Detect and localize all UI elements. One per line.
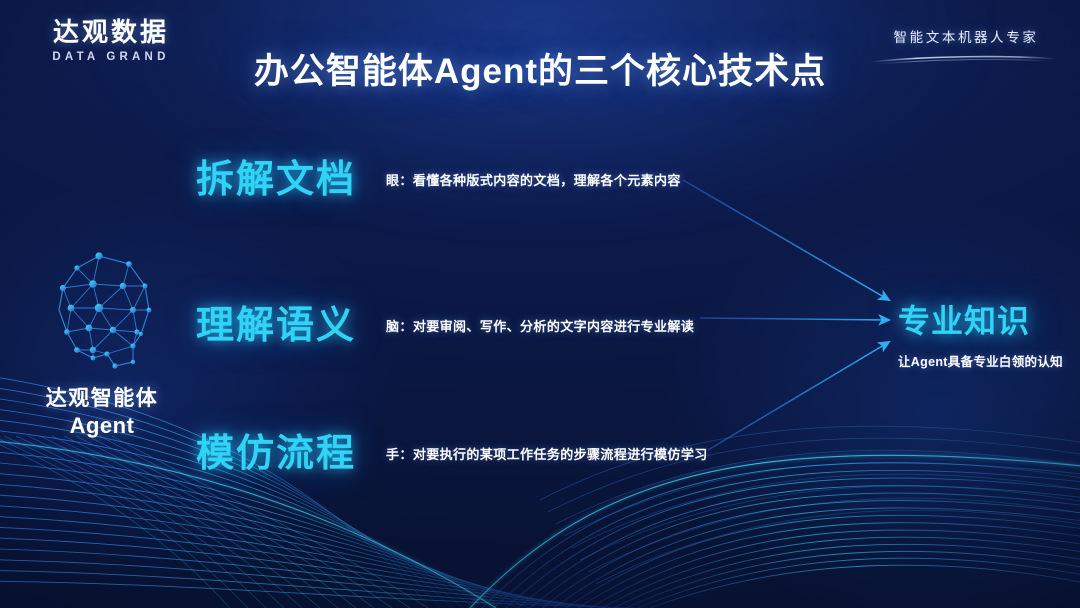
outcome-block: 专业知识 让Agent具备专业白领的认知: [898, 296, 1074, 370]
pillar-title-2: 理解语义: [196, 294, 356, 349]
pillar-title-1: 拆解文档: [196, 148, 356, 203]
agent-name-en: Agent: [18, 413, 186, 439]
pillar-desc-3: 手：对要执行的某项工作任务的步骤流程进行模仿学习: [386, 444, 708, 463]
pillar-row-3: 模仿流程 手：对要执行的某项工作任务的步骤流程进行模仿学习: [196, 422, 708, 477]
pillar-desc-2: 脑：对要审阅、写作、分析的文字内容进行专业解读: [386, 316, 694, 335]
tagline-underline-swoosh: [866, 53, 1062, 67]
pillar-desc-1: 眼：看懂各种版式内容的文档，理解各个元素内容: [386, 170, 681, 189]
outcome-desc: 让Agent具备专业白领的认知: [898, 351, 1074, 370]
pillar-row-2: 理解语义 脑：对要审阅、写作、分析的文字内容进行专业解读: [196, 294, 694, 349]
pillar-title-3: 模仿流程: [196, 422, 356, 477]
brand-logo-cn: 达观数据: [26, 18, 196, 47]
outcome-title: 专业知识: [898, 296, 1074, 342]
network-head-icon: [37, 250, 167, 376]
slide-canvas: 达观数据 DATA GRAND 办公智能体Agent的三个核心技术点 智能文本机…: [0, 0, 1080, 608]
agent-emblem: 达观智能体 Agent: [18, 250, 186, 439]
pillar-row-1: 拆解文档 眼：看懂各种版式内容的文档，理解各个元素内容: [196, 148, 681, 203]
brand-tagline: 智能文本机器人专家: [866, 26, 1066, 46]
agent-name-cn: 达观智能体: [18, 382, 186, 412]
brand-tagline-block: 智能文本机器人专家: [866, 26, 1066, 67]
